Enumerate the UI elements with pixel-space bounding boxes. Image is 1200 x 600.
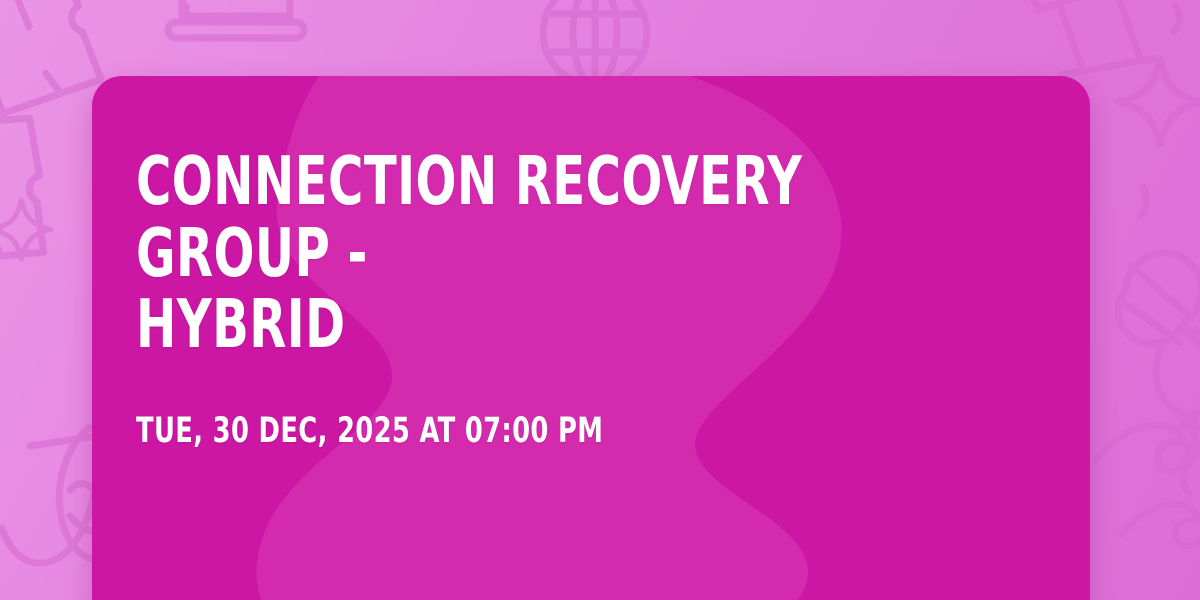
ticket-icon <box>0 108 57 272</box>
microphone-icon <box>1118 253 1200 362</box>
ticket-icon <box>0 0 104 117</box>
podium-icon <box>1018 0 1162 79</box>
globe-icon <box>543 0 647 85</box>
event-card[interactable]: Connection Recovery Group - Hybrid Tue, … <box>92 76 1090 600</box>
event-datetime: Tue, 30 Dec, 2025 at 07:00 PM <box>136 361 869 451</box>
streamer-swirl-icon <box>1120 505 1200 600</box>
event-banner: Connection Recovery Group - Hybrid Tue, … <box>0 0 1200 600</box>
card-content: Connection Recovery Group - Hybrid Tue, … <box>136 146 1030 451</box>
sparkle-icon <box>1118 60 1200 144</box>
event-title: Connection Recovery Group - Hybrid <box>136 146 851 361</box>
